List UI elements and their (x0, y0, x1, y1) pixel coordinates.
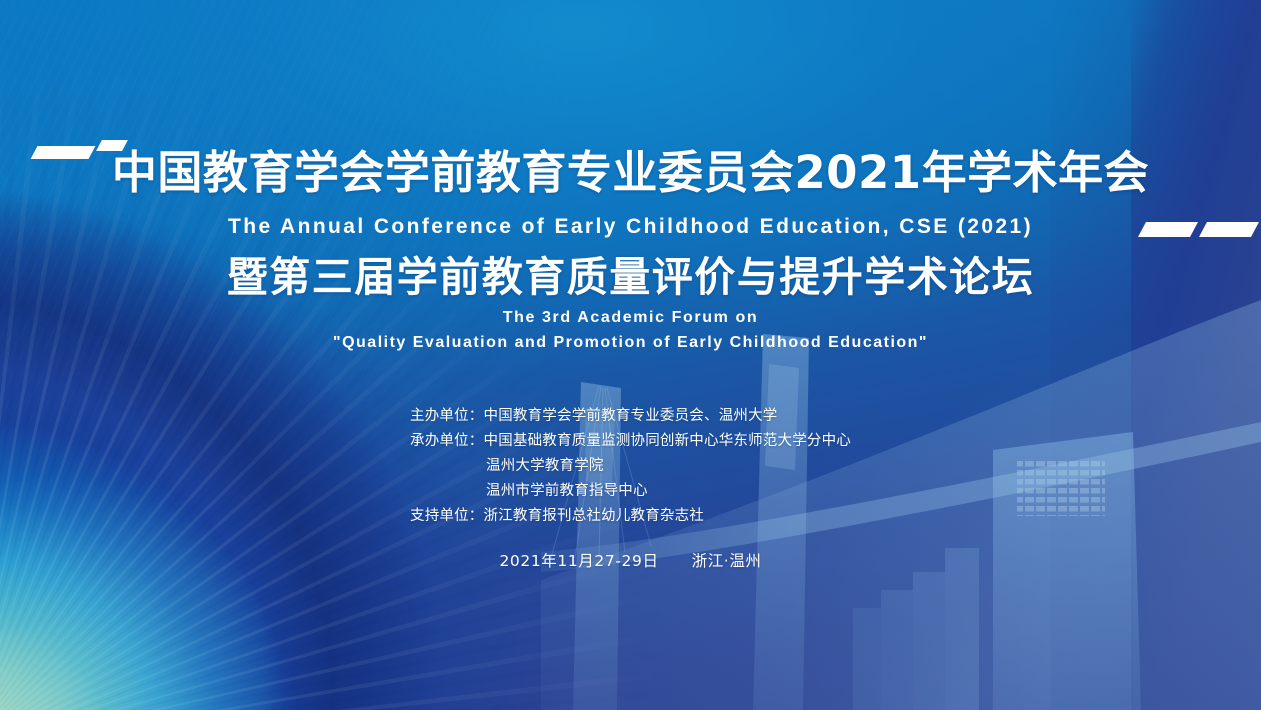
conference-banner: 中国教育学会学前教育专业委员会2021年学术年会 The Annual Conf… (0, 0, 1261, 710)
forum-subtitle-english: The 3rd Academic Forum on "Quality Evalu… (0, 306, 1261, 356)
conference-date: 2021年11月27-29日 (499, 552, 658, 570)
organizer-value: 中国教育学会学前教育专业委员会、温州大学 (484, 408, 778, 424)
organizer-row: 温州市学前教育指导中心 (410, 479, 851, 504)
date-location-bar: 2021年11月27-29日 浙江·温州 (0, 549, 1261, 571)
organizer-row: 支持单位：浙江教育报刊总社幼儿教育杂志社 (410, 504, 851, 529)
organizer-row: 温州大学教育学院 (410, 454, 851, 479)
organizer-row: 主办单位：中国教育学会学前教育专业委员会、温州大学 (410, 404, 851, 429)
organizer-value: 中国基础教育质量监测协同创新中心华东师范大学分中心 (484, 433, 852, 449)
banner-content: 中国教育学会学前教育专业委员会2021年学术年会 The Annual Conf… (0, 0, 1261, 710)
organizer-value: 温州市学前教育指导中心 (486, 483, 648, 499)
organizer-label: 承办单位： (410, 433, 484, 449)
organizer-row: 承办单位：中国基础教育质量监测协同创新中心华东师范大学分中心 (410, 429, 851, 454)
conference-subtitle-chinese: 暨第三届学前教育质量评价与提升学术论坛 (0, 255, 1261, 300)
conference-title-english: The Annual Conference of Early Childhood… (0, 215, 1261, 238)
organizer-label: 主办单位： (410, 408, 484, 424)
organizers-list: 主办单位：中国教育学会学前教育专业委员会、温州大学 承办单位：中国基础教育质量监… (410, 404, 851, 529)
organizer-value: 浙江教育报刊总社幼儿教育杂志社 (484, 508, 705, 524)
organizers-block: 主办单位：中国教育学会学前教育专业委员会、温州大学 承办单位：中国基础教育质量监… (0, 404, 1261, 529)
organizer-label: 支持单位： (410, 508, 484, 524)
organizer-value: 温州大学教育学院 (486, 458, 604, 474)
forum-subtitle-line2: "Quality Evaluation and Promotion of Ear… (0, 331, 1261, 356)
conference-title-chinese: 中国教育学会学前教育专业委员会2021年学术年会 (0, 150, 1261, 195)
forum-subtitle-line1: The 3rd Academic Forum on (0, 306, 1261, 331)
conference-location: 浙江·温州 (692, 552, 762, 570)
